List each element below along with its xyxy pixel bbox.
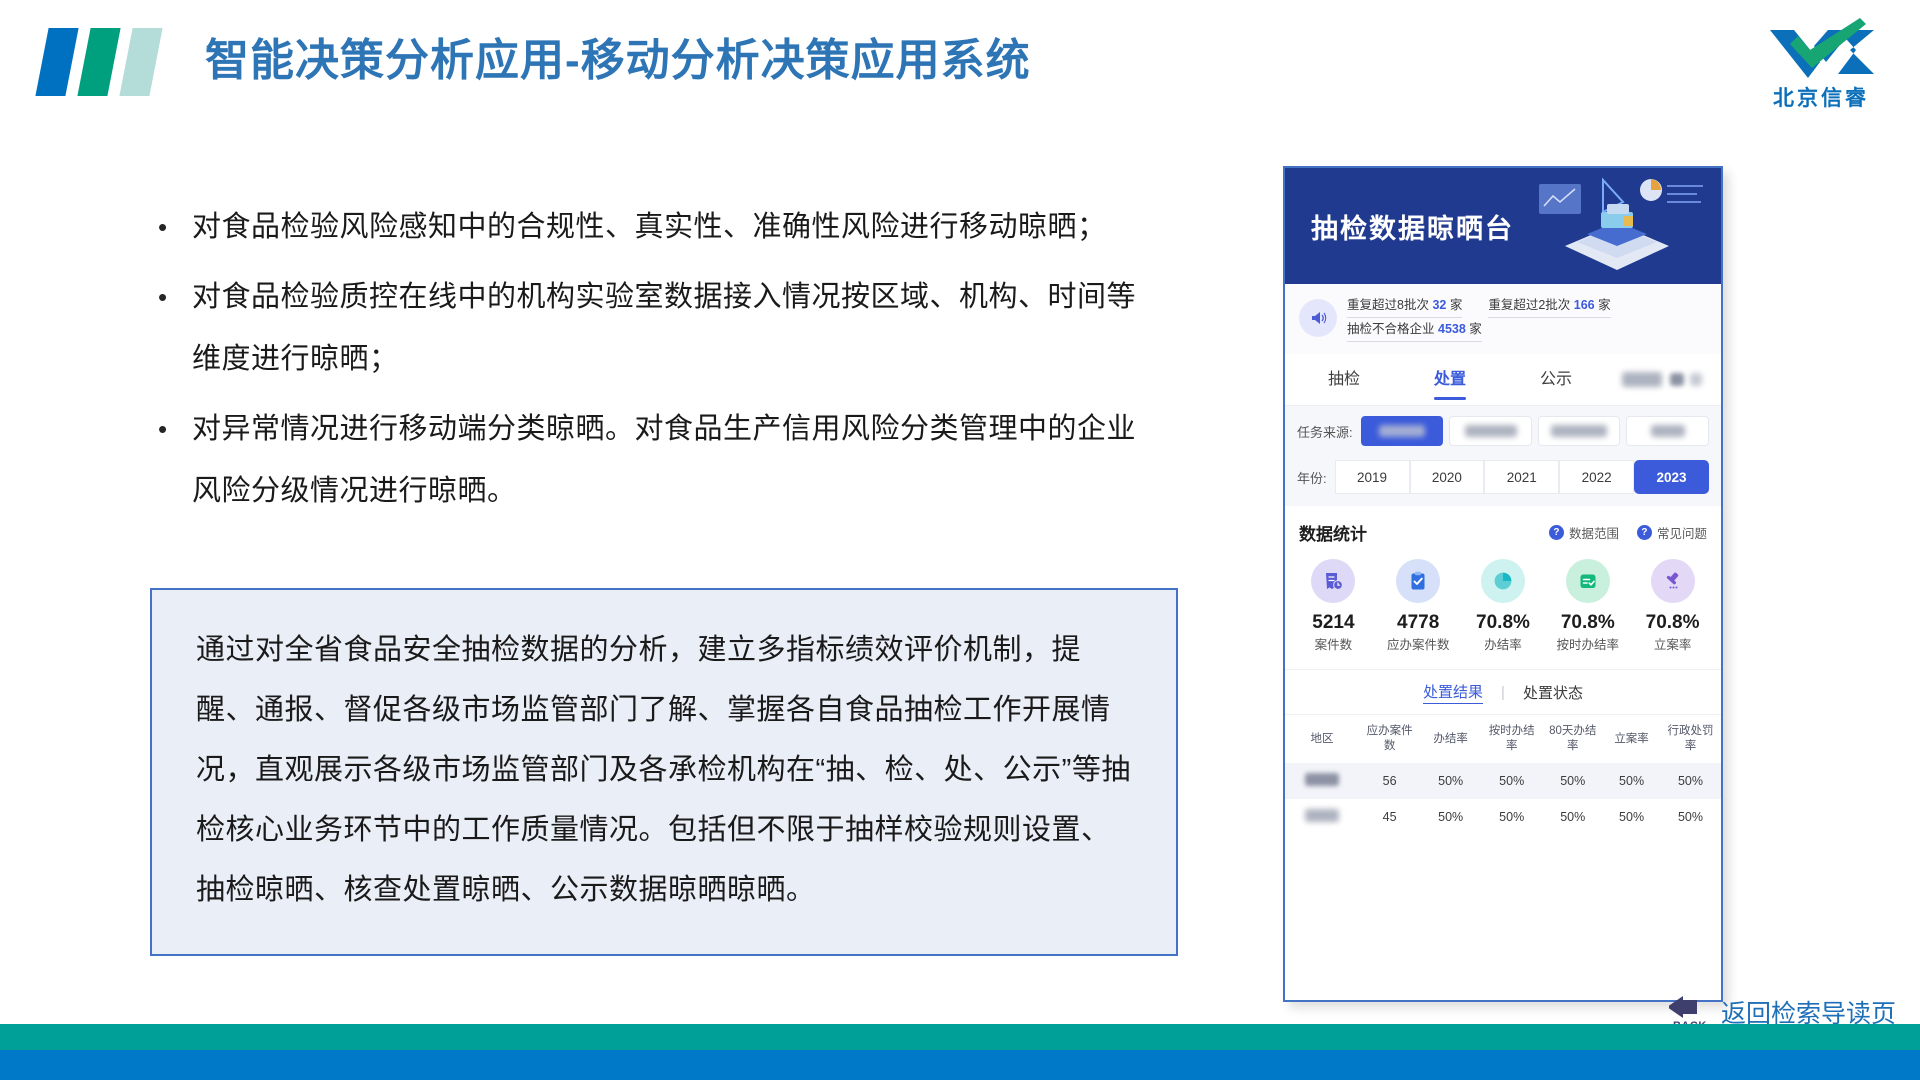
slide-header: 智能决策分析应用-移动分析决策应用系统 北京信睿 [0, 0, 1920, 136]
table-header-row: 地区 应办案件数 办结率 按时办结率 80天办结率 立案率 行政处罚率 [1285, 715, 1721, 763]
cell-region [1285, 799, 1359, 835]
metric-label: 立案率 [1630, 635, 1715, 655]
blurred-label-block [1670, 373, 1684, 386]
announcement-unit: 家 [1598, 298, 1611, 312]
col-completion-rate: 办结率 [1420, 715, 1481, 763]
filter-chip[interactable] [1626, 416, 1709, 446]
question-mark-icon: ? [1637, 525, 1652, 540]
statistics-header: 数据统计 ? 数据范围 ? 常见问题 [1285, 506, 1721, 549]
filter-chip-group [1361, 416, 1709, 446]
year-chip-2020[interactable]: 2020 [1410, 460, 1485, 494]
filter-row-task-source: 任务来源: [1285, 406, 1721, 456]
announcement-value: 4538 [1438, 322, 1466, 336]
metric-completion-rate[interactable]: 70.8% 办结率 [1461, 559, 1546, 655]
filter-chip[interactable] [1538, 416, 1621, 446]
table-row[interactable]: 45 50% 50% 50% 50% 50% [1285, 799, 1721, 835]
filter-chip[interactable] [1449, 416, 1532, 446]
description-box: 通过对全省食品安全抽检数据的分析，建立多指标绩效评价机制，提醒、通报、督促各级市… [150, 588, 1178, 956]
cell-due-cases: 56 [1359, 763, 1420, 799]
announcement-item[interactable]: 重复超过8批次 32 家 [1347, 294, 1462, 318]
year-chip-2021[interactable]: 2021 [1484, 460, 1559, 494]
blurred-label-block [1690, 373, 1702, 386]
metric-value: 4778 [1376, 611, 1461, 635]
document-check-icon [1566, 559, 1610, 603]
year-chip-2023[interactable]: 2023 [1634, 460, 1709, 494]
cell-filing-rate: 50% [1603, 799, 1660, 835]
filter-label: 任务来源: [1297, 422, 1353, 441]
metric-value: 5214 [1291, 611, 1376, 635]
filter-row-year: 年份: 2019 2020 2021 2022 2023 [1285, 456, 1721, 506]
receipt-icon [1311, 559, 1355, 603]
footer-stripe-teal [0, 1024, 1920, 1050]
metric-filing-rate[interactable]: 70.8% 立案率 [1630, 559, 1715, 655]
bullet-marker: • [152, 196, 192, 258]
blurred-chip-label [1551, 425, 1607, 437]
col-on-time-rate: 按时办结率 [1481, 715, 1542, 763]
announcement-unit: 家 [1450, 298, 1463, 312]
tab-chu-zhi[interactable]: 处置 [1397, 354, 1503, 406]
announcement-label: 重复超过8批次 [1347, 298, 1429, 312]
help-link-label: 数据范围 [1569, 523, 1619, 542]
help-link-data-range[interactable]: ? 数据范围 [1549, 523, 1619, 542]
year-filter-label: 年份: [1297, 468, 1327, 487]
col-filing-rate: 立案率 [1603, 715, 1660, 763]
slide-root: 智能决策分析应用-移动分析决策应用系统 北京信睿 • 对食品检验风险感知中的合规… [0, 0, 1920, 1080]
cell-80day-rate: 50% [1542, 763, 1603, 799]
header-accent-bars [38, 28, 172, 96]
subtab-disposal-result[interactable]: 处置结果 [1423, 681, 1483, 704]
blurred-chip-label [1465, 425, 1517, 437]
help-link-label: 常见问题 [1657, 523, 1707, 542]
bullet-marker: • [152, 398, 192, 522]
cell-on-time-rate: 50% [1481, 763, 1542, 799]
question-mark-icon: ? [1549, 525, 1564, 540]
cell-completion-rate: 50% [1420, 763, 1481, 799]
blurred-chip-label [1651, 425, 1685, 437]
blurred-region-name [1305, 773, 1339, 786]
table-row[interactable]: 56 50% 50% 50% 50% 50% [1285, 763, 1721, 799]
tab-label: 抽检 [1328, 371, 1360, 388]
statistics-title: 数据统计 [1299, 520, 1531, 545]
accent-bar-blue [35, 28, 78, 96]
cell-penalty-rate: 50% [1660, 763, 1721, 799]
table-header: 地区 应办案件数 办结率 按时办结率 80天办结率 立案率 行政处罚率 [1285, 715, 1721, 763]
announcement-bar: 重复超过8批次 32 家 重复超过2批次 166 家 抽检不合格企业 4538 … [1285, 284, 1721, 354]
announcement-text: 重复超过8批次 32 家 重复超过2批次 166 家 抽检不合格企业 4538 … [1347, 294, 1707, 342]
cell-80day-rate: 50% [1542, 799, 1603, 835]
page-title: 智能决策分析应用-移动分析决策应用系统 [205, 28, 1031, 94]
bullet-list: • 对食品检验风险感知中的合规性、真实性、准确性风险进行移动晾晒； • 对食品检… [152, 196, 1162, 530]
metric-label: 办结率 [1461, 635, 1546, 655]
footer-stripe-blue [0, 1050, 1920, 1080]
metric-on-time-rate[interactable]: 70.8% 按时办结率 [1545, 559, 1630, 655]
tab-blurred[interactable] [1609, 354, 1715, 406]
accent-bar-teal [77, 28, 120, 96]
statistics-table: 地区 应办案件数 办结率 按时办结率 80天办结率 立案率 行政处罚率 56 5… [1285, 715, 1721, 835]
cell-filing-rate: 50% [1603, 763, 1660, 799]
announcement-unit: 家 [1469, 322, 1482, 336]
metric-case-count[interactable]: 5214 案件数 [1291, 559, 1376, 655]
company-logo: 北京信睿 [1746, 14, 1896, 116]
announcement-value: 166 [1574, 298, 1595, 312]
col-region: 地区 [1285, 715, 1359, 763]
subtab-separator: | [1501, 684, 1505, 701]
blurred-region-name [1305, 809, 1339, 822]
bullet-text: 对异常情况进行移动端分类晾晒。对食品生产信用风险分类管理中的企业风险分级情况进行… [192, 398, 1162, 522]
announcement-label: 抽检不合格企业 [1347, 322, 1435, 336]
clipboard-check-icon [1396, 559, 1440, 603]
gavel-icon [1651, 559, 1695, 603]
cell-completion-rate: 50% [1420, 799, 1481, 835]
metric-due-case-count[interactable]: 4778 应办案件数 [1376, 559, 1461, 655]
app-banner: 抽检数据晾晒台 [1285, 168, 1721, 284]
bullet-text: 对食品检验风险感知中的合规性、真实性、准确性风险进行移动晾晒； [192, 196, 1162, 258]
tab-chou-jian[interactable]: 抽检 [1291, 354, 1397, 406]
col-due-cases: 应办案件数 [1359, 715, 1420, 763]
list-item: • 对异常情况进行移动端分类晾晒。对食品生产信用风险分类管理中的企业风险分级情况… [152, 398, 1162, 522]
metric-tiles: 5214 案件数 4778 应办案件数 [1285, 549, 1721, 669]
sub-tab-bar: 处置结果 | 处置状态 [1285, 669, 1721, 715]
blurred-label-block [1622, 372, 1662, 387]
year-chip-group: 2019 2020 2021 2022 2023 [1335, 460, 1709, 494]
help-link-faq[interactable]: ? 常见问题 [1637, 523, 1707, 542]
tab-gong-shi[interactable]: 公示 [1503, 354, 1609, 406]
year-chip-2022[interactable]: 2022 [1559, 460, 1634, 494]
logo-xr-mark [1764, 16, 1880, 82]
app-banner-title: 抽检数据晾晒台 [1311, 207, 1514, 246]
cell-penalty-rate: 50% [1660, 799, 1721, 835]
col-80day-rate: 80天办结率 [1542, 715, 1603, 763]
bullet-marker: • [152, 266, 192, 390]
tab-label: 处置 [1434, 371, 1466, 388]
mobile-app-mockup: 抽检数据晾晒台 [1283, 166, 1723, 1002]
year-chip-2019[interactable]: 2019 [1335, 460, 1410, 494]
announcement-item[interactable]: 重复超过2批次 166 家 [1488, 294, 1610, 318]
metric-value: 70.8% [1461, 611, 1546, 635]
metric-label: 应办案件数 [1376, 635, 1461, 655]
cell-due-cases: 45 [1359, 799, 1420, 835]
logo-text: 北京信睿 [1746, 82, 1896, 112]
megaphone-icon [1299, 299, 1337, 337]
subtab-disposal-status[interactable]: 处置状态 [1523, 682, 1583, 703]
metric-label: 案件数 [1291, 635, 1376, 655]
announcement-label: 重复超过2批次 [1488, 298, 1570, 312]
cell-on-time-rate: 50% [1481, 799, 1542, 835]
list-item: • 对食品检验质控在线中的机构实验室数据接入情况按区域、机构、时间等维度进行晾晒… [152, 266, 1162, 390]
metric-value: 70.8% [1630, 611, 1715, 635]
announcement-item[interactable]: 抽检不合格企业 4538 家 [1347, 318, 1482, 342]
filter-chip-selected[interactable] [1361, 416, 1444, 446]
cell-region [1285, 763, 1359, 799]
blurred-chip-label [1379, 425, 1425, 437]
accent-bar-light [119, 28, 162, 96]
table-body: 56 50% 50% 50% 50% 50% 45 50% 50% 50% 50… [1285, 763, 1721, 835]
list-item: • 对食品检验风险感知中的合规性、真实性、准确性风险进行移动晾晒； [152, 196, 1162, 258]
announcement-value: 32 [1432, 298, 1446, 312]
main-tab-bar: 抽检 处置 公示 [1285, 354, 1721, 406]
metric-value: 70.8% [1545, 611, 1630, 635]
description-text: 通过对全省食品安全抽检数据的分析，建立多指标绩效评价机制，提醒、通报、督促各级市… [196, 620, 1132, 920]
bullet-text: 对食品检验质控在线中的机构实验室数据接入情况按区域、机构、时间等维度进行晾晒； [192, 266, 1162, 390]
col-penalty-rate: 行政处罚率 [1660, 715, 1721, 763]
metric-label: 按时办结率 [1545, 635, 1630, 655]
tab-label: 公示 [1540, 371, 1572, 388]
pie-chart-icon [1481, 559, 1525, 603]
data-platform-illustration [1525, 172, 1715, 284]
